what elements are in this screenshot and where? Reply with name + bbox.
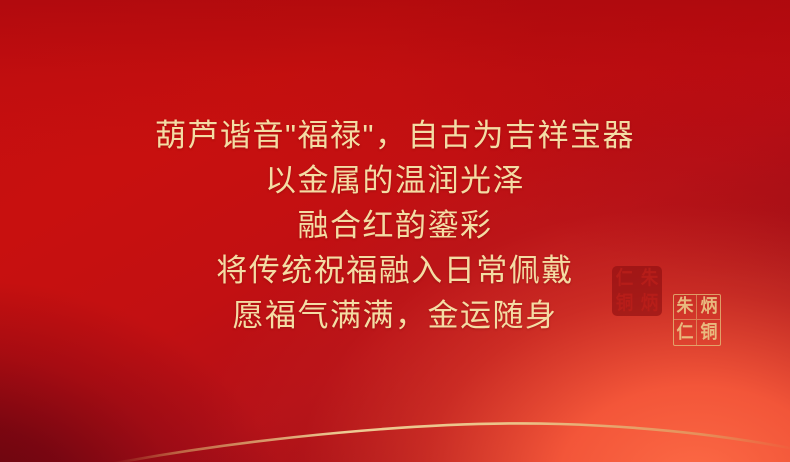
message-line-2: 以金属的温润光泽 — [0, 158, 790, 203]
message-line-5: 愿福气满满，金运随身 — [0, 293, 790, 338]
message-text-block: 葫芦谐音"福禄"，自古为吉祥宝器 以金属的温润光泽 融合红韵鎏彩 将传统祝福融入… — [0, 113, 790, 338]
message-line-4: 将传统祝福融入日常佩戴 — [0, 248, 790, 293]
promo-banner: 葫芦谐音"福禄"，自古为吉祥宝器 以金属的温润光泽 融合红韵鎏彩 将传统祝福融入… — [0, 0, 790, 462]
message-line-1: 葫芦谐音"福禄"，自古为吉祥宝器 — [0, 113, 790, 158]
message-line-3: 融合红韵鎏彩 — [0, 203, 790, 248]
